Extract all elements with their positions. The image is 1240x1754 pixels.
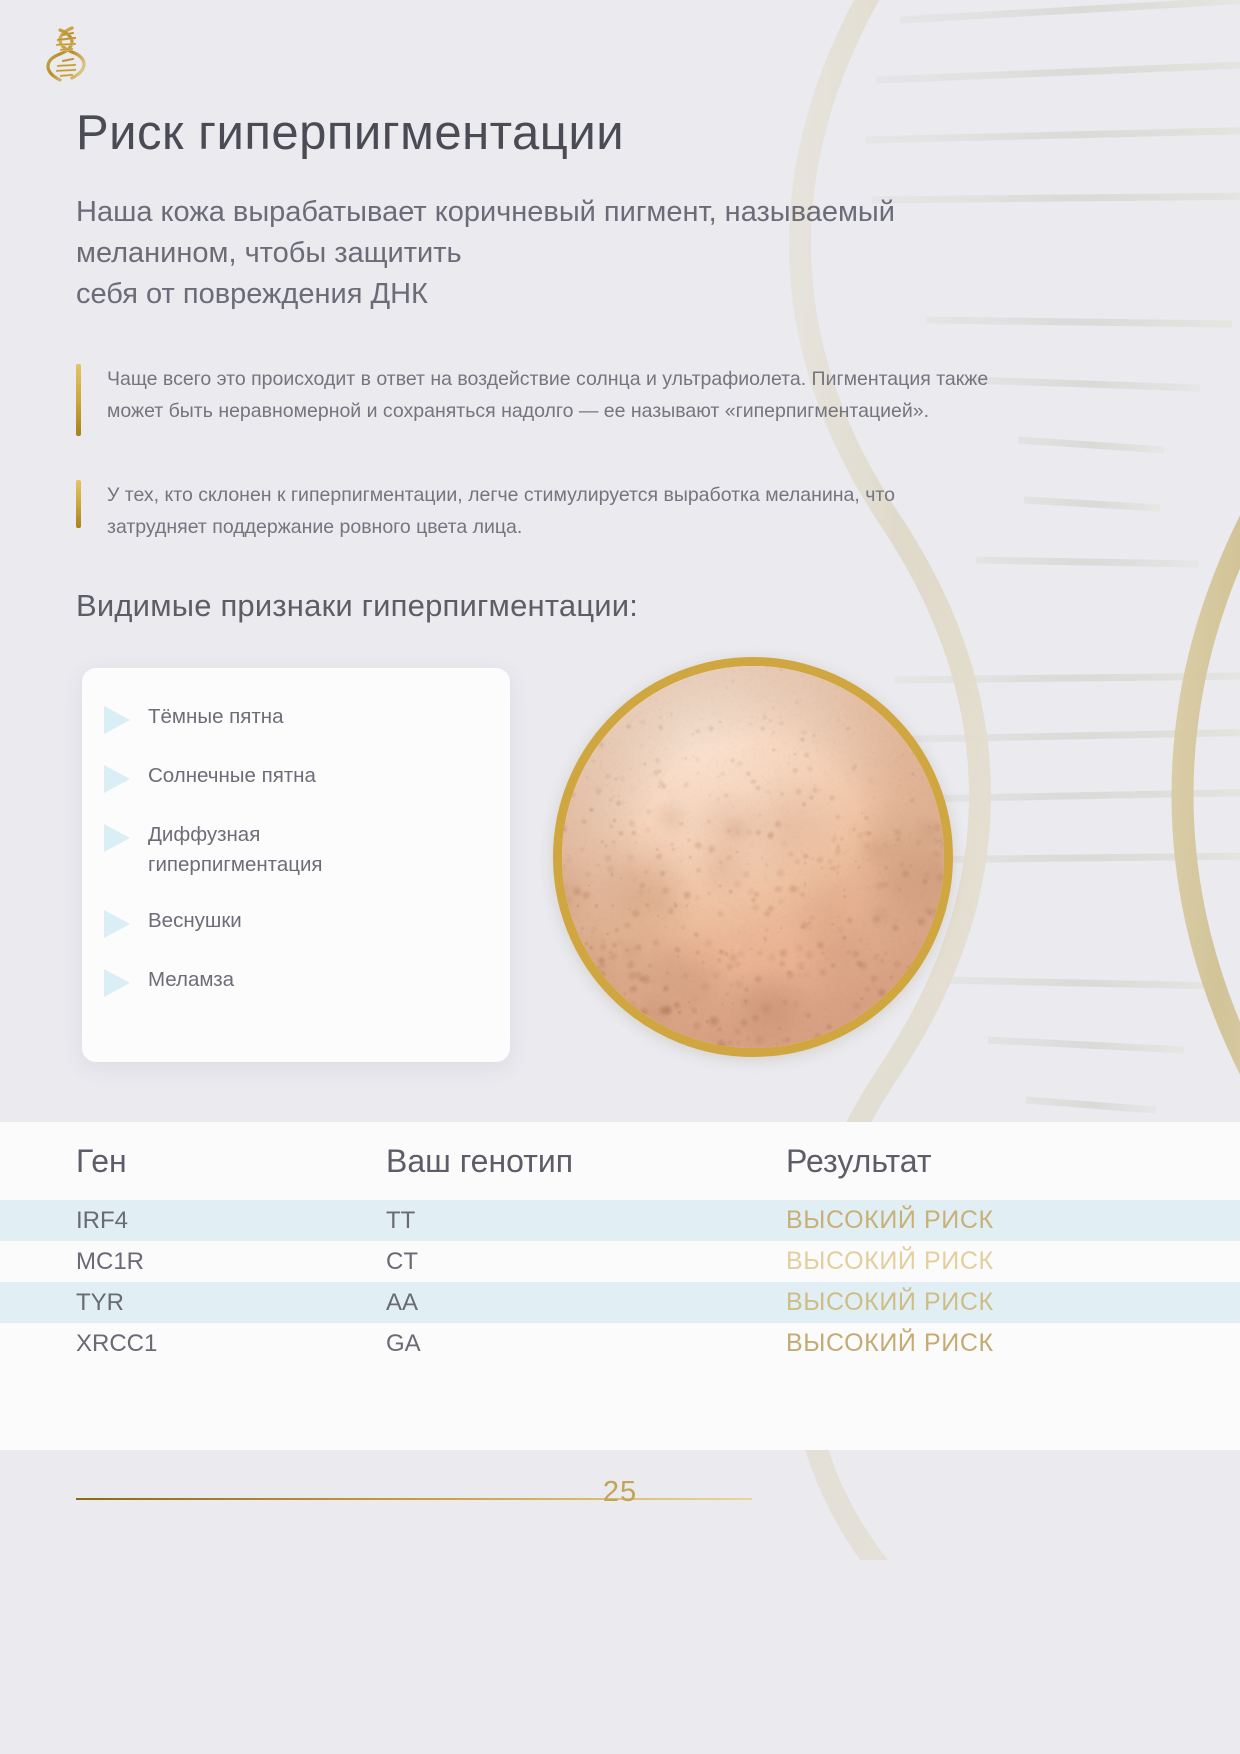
cell-result: ВЫСОКИЙ РИСК — [786, 1247, 1240, 1276]
triangle-arrow-icon — [104, 910, 130, 938]
column-header-gene: Ген — [76, 1143, 386, 1180]
cell-result: ВЫСОКИЙ РИСК — [786, 1329, 1240, 1358]
list-item: Солнечные пятна — [104, 761, 482, 793]
gold-accent-bar — [76, 364, 81, 436]
table-row: IRF4 TT ВЫСОКИЙ РИСК — [0, 1200, 1240, 1241]
list-item: Тёмные пятна — [104, 702, 482, 734]
callout-text-1: Чаще всего это происходит в ответ на воз… — [107, 364, 996, 436]
table-header-row: Ген Ваш генотип Результат — [0, 1122, 1240, 1200]
gold-accent-bar — [76, 480, 81, 528]
triangle-arrow-icon — [104, 706, 130, 734]
cell-genotype: GA — [386, 1330, 786, 1358]
table-row: MC1R CT ВЫСОКИЙ РИСК — [0, 1241, 1240, 1282]
list-item-label: Веснушки — [148, 906, 242, 936]
skin-hyperpigmentation-photo — [562, 666, 944, 1048]
skin-photo-circle — [553, 657, 953, 1057]
list-item: Меламза — [104, 965, 482, 997]
cell-gene: TYR — [76, 1289, 386, 1317]
cell-gene: IRF4 — [76, 1207, 386, 1235]
list-item-label: Диффузная гиперпигментация — [148, 820, 323, 879]
table-row: TYR AA ВЫСОКИЙ РИСК — [0, 1282, 1240, 1323]
list-item: Диффузная гиперпигментация — [104, 820, 482, 879]
column-header-result: Результат — [786, 1143, 1240, 1180]
symptoms-heading: Видимые признаки гиперпигментации: — [76, 588, 638, 624]
callout-text-2: У тех, кто склонен к гиперпигментации, л… — [107, 480, 976, 543]
cell-genotype: AA — [386, 1289, 786, 1317]
callout-block-2: У тех, кто склонен к гиперпигментации, л… — [76, 480, 976, 543]
list-item-label: Меламза — [148, 965, 234, 995]
report-page: Риск гиперпигментации Наша кожа вырабаты… — [0, 0, 1240, 1754]
page-number: 25 — [0, 1476, 1240, 1509]
cell-result: ВЫСОКИЙ РИСК — [786, 1288, 1240, 1317]
dna-helix-logo-icon — [42, 24, 88, 86]
column-header-genotype: Ваш генотип — [386, 1143, 786, 1180]
callout-block-1: Чаще всего это происходит в ответ на воз… — [76, 364, 996, 436]
triangle-arrow-icon — [104, 969, 130, 997]
cell-gene: MC1R — [76, 1248, 386, 1276]
triangle-arrow-icon — [104, 824, 130, 852]
triangle-arrow-icon — [104, 765, 130, 793]
intro-paragraph: Наша кожа вырабатывает коричневый пигмен… — [76, 192, 956, 316]
table-footer-strip — [0, 1364, 1240, 1450]
list-item-label: Тёмные пятна — [148, 702, 283, 732]
cell-genotype: CT — [386, 1248, 786, 1276]
results-table: Ген Ваш генотип Результат IRF4 TT ВЫСОКИ… — [0, 1122, 1240, 1450]
page-title: Риск гиперпигментации — [76, 106, 624, 161]
list-item-label: Солнечные пятна — [148, 761, 316, 791]
cell-result: ВЫСОКИЙ РИСК — [786, 1206, 1240, 1235]
cell-genotype: TT — [386, 1207, 786, 1235]
list-item: Веснушки — [104, 906, 482, 938]
cell-gene: XRCC1 — [76, 1330, 386, 1358]
table-row: XRCC1 GA ВЫСОКИЙ РИСК — [0, 1323, 1240, 1364]
symptoms-card: Тёмные пятна Солнечные пятна Диффузная г… — [82, 668, 510, 1062]
